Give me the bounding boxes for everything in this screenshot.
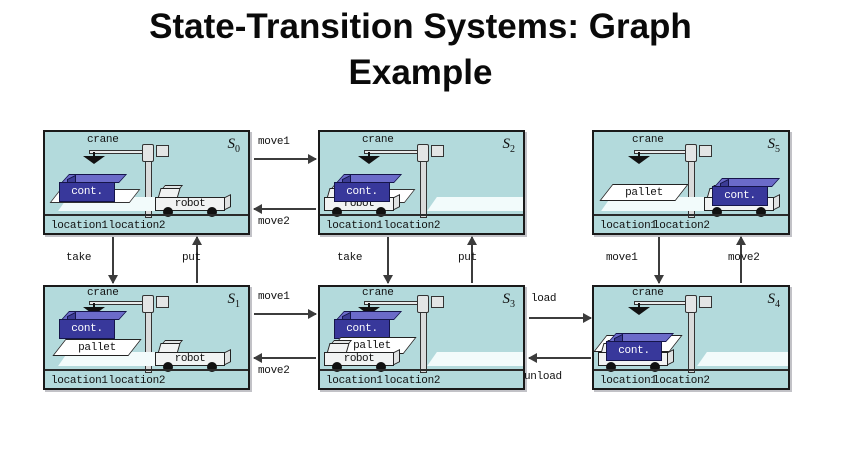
container-label: cont. — [334, 319, 390, 339]
crane-label: crane — [87, 287, 119, 299]
arrow-head-right-icon — [583, 313, 592, 323]
crane-head-icon — [142, 144, 154, 162]
crane-box-icon — [431, 145, 444, 157]
robot-object[interactable]: robot — [324, 342, 400, 372]
transition-arrow-take-s0-s1[interactable] — [112, 237, 114, 283]
ground-line — [45, 214, 248, 216]
location2-label: location2 — [109, 375, 166, 387]
crane-head-icon — [685, 144, 697, 162]
floor-sheet — [427, 197, 523, 211]
transition-arrow-move1-s5-s4[interactable] — [658, 237, 660, 283]
crane-head-icon — [142, 295, 154, 313]
transition-label-take-s0-s1: take — [66, 252, 91, 264]
crane-gripper-icon — [628, 156, 650, 164]
ground-line — [594, 369, 788, 371]
arrow-head-right-icon — [308, 309, 317, 319]
state-panel-s3[interactable]: S3 crane cont. pallet robot location1 — [318, 285, 525, 390]
crane-gripper-icon — [83, 156, 105, 164]
arrow-head-left-icon — [253, 353, 262, 363]
location1-label: location1 — [600, 220, 657, 232]
crane-label: crane — [362, 287, 394, 299]
transition-label-move1-s1-s3: move1 — [258, 291, 290, 303]
robot-object[interactable]: robot — [155, 187, 231, 217]
crane-head-icon — [417, 295, 429, 313]
crane-label: crane — [362, 134, 394, 146]
location2-label: location2 — [653, 375, 710, 387]
floor-sheet — [427, 352, 523, 366]
location1-label: location1 — [326, 220, 383, 232]
robot-object[interactable]: robot — [155, 342, 231, 372]
transition-label-move1-s0-s2: move1 — [258, 136, 290, 148]
state-panel-s2[interactable]: S2 crane robot cont. location1 locati — [318, 130, 525, 235]
container-object[interactable]: cont. — [334, 311, 396, 339]
state-panel-s4[interactable]: S4 crane robot cont. location1 locati — [592, 285, 790, 390]
state-label-s4: S4 — [768, 291, 781, 310]
state-label-s5: S5 — [768, 136, 781, 155]
arrow-head-left-icon — [253, 204, 262, 214]
pallet-label: pallet — [59, 339, 135, 356]
container-label: cont. — [334, 182, 390, 202]
container-label: cont. — [59, 319, 115, 339]
crane-head-icon — [685, 295, 697, 313]
crane-box-icon — [699, 296, 712, 308]
transition-label-move1-s5-s4: move1 — [606, 252, 638, 264]
container-object[interactable]: cont. — [334, 174, 396, 202]
container-object[interactable]: cont. — [59, 311, 121, 339]
crane-label: crane — [87, 134, 119, 146]
transition-label-put-s1-s0: put — [182, 252, 201, 264]
page-title-line1: State-Transition Systems: Graph — [149, 7, 692, 46]
ground-line — [320, 369, 523, 371]
floor-sheet — [697, 352, 788, 366]
container-object[interactable]: cont. — [606, 333, 668, 361]
crane-box-icon — [431, 296, 444, 308]
container-object[interactable]: cont. — [712, 178, 774, 206]
ground-line — [45, 369, 248, 371]
arrow-head-down-icon — [108, 275, 118, 284]
state-panel-s0[interactable]: S0 crane cont. robot location1 locatio — [43, 130, 250, 235]
ground-line — [320, 214, 523, 216]
container-object[interactable]: cont. — [59, 174, 121, 202]
transition-arrow-load-s3-s4[interactable] — [529, 317, 591, 319]
arrow-head-up-icon — [467, 236, 477, 245]
pallet-label: pallet — [606, 184, 682, 201]
transition-label-put-s3-s2: put — [458, 252, 477, 264]
crane-gripper-icon — [628, 307, 650, 315]
transition-label-unload-s4-s3: unload — [524, 371, 562, 383]
transition-arrow-move1-s1-s3[interactable] — [254, 313, 316, 315]
arrow-head-right-icon — [308, 154, 317, 164]
crane-head-icon — [417, 144, 429, 162]
state-label-s1: S1 — [228, 291, 241, 310]
arrow-head-up-icon — [736, 236, 746, 245]
arrow-head-down-icon — [383, 275, 393, 284]
ground-line — [594, 214, 788, 216]
page-title-line2: Example — [0, 50, 841, 96]
transition-label-load-s3-s4: load — [531, 293, 556, 305]
state-label-s0: S0 — [228, 136, 241, 155]
location1-label: location1 — [51, 375, 108, 387]
container-label: cont. — [59, 182, 115, 202]
crane-box-icon — [699, 145, 712, 157]
location2-label: location2 — [109, 220, 166, 232]
state-label-s3: S3 — [503, 291, 516, 310]
crane-label: crane — [632, 134, 664, 146]
page-title: State-Transition Systems: Graph Example — [0, 4, 841, 96]
transition-arrow-move2-s3-s1[interactable] — [254, 357, 316, 359]
state-panel-s5[interactable]: S5 crane pallet robot cont. location1 — [592, 130, 790, 235]
crane-box-icon — [156, 145, 169, 157]
transition-label-move2-s3-s1: move2 — [258, 365, 290, 377]
container-label: cont. — [712, 186, 768, 206]
crane-box-icon — [156, 296, 169, 308]
transition-label-move2-s4-s5: move2 — [728, 252, 760, 264]
state-panel-s1[interactable]: S1 crane cont. pallet robot location1 — [43, 285, 250, 390]
location1-label: location1 — [326, 375, 383, 387]
arrow-head-down-icon — [654, 275, 664, 284]
transition-label-take-s2-s3: take — [337, 252, 362, 264]
location1-label: location1 — [600, 375, 657, 387]
transition-label-move2-s2-s0: move2 — [258, 216, 290, 228]
location2-label: location2 — [384, 375, 441, 387]
state-label-s2: S2 — [503, 136, 516, 155]
crane-label: crane — [632, 287, 664, 299]
container-label: cont. — [606, 341, 662, 361]
transition-arrow-unload-s4-s3[interactable] — [529, 357, 591, 359]
transition-arrow-take-s2-s3[interactable] — [387, 237, 389, 283]
arrow-head-up-icon — [192, 236, 202, 245]
crane-gripper-icon — [358, 156, 380, 164]
location2-label: location2 — [384, 220, 441, 232]
location2-label: location2 — [653, 220, 710, 232]
arrow-head-left-icon — [528, 353, 537, 363]
location1-label: location1 — [51, 220, 108, 232]
transition-arrow-move2-s2-s0[interactable] — [254, 208, 316, 210]
transition-arrow-move1-s0-s2[interactable] — [254, 158, 316, 160]
